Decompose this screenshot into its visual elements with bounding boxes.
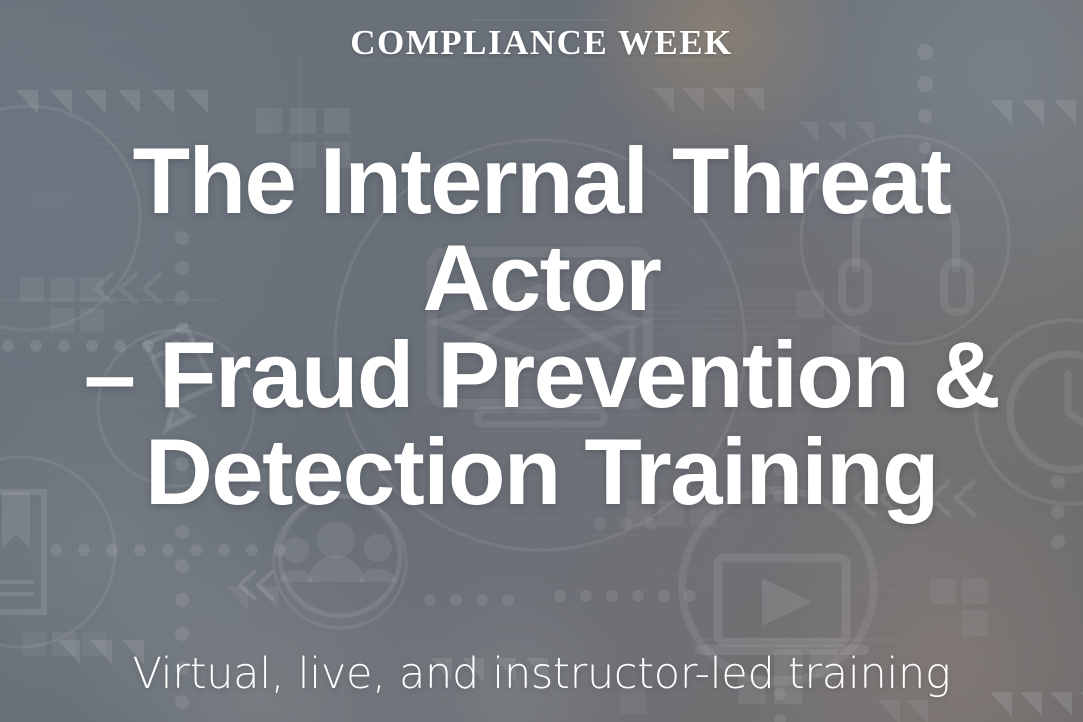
brand-logo: COMPLIANCE WEEK (350, 25, 733, 60)
event-format-subtitle: Virtual, live, and instructor-led traini… (132, 651, 950, 698)
headline-line-3: Detection Training (12, 423, 1072, 520)
headline-line-1: The Internal Threat Actor (12, 132, 1072, 326)
banner-content: COMPLIANCE WEEK The Internal Threat Acto… (0, 0, 1083, 722)
page-title: The Internal Threat Actor – Fraud Preven… (12, 132, 1072, 520)
event-promo-banner: COMPLIANCE WEEK The Internal Threat Acto… (0, 0, 1083, 722)
headline-line-2: – Fraud Prevention & (12, 326, 1072, 423)
